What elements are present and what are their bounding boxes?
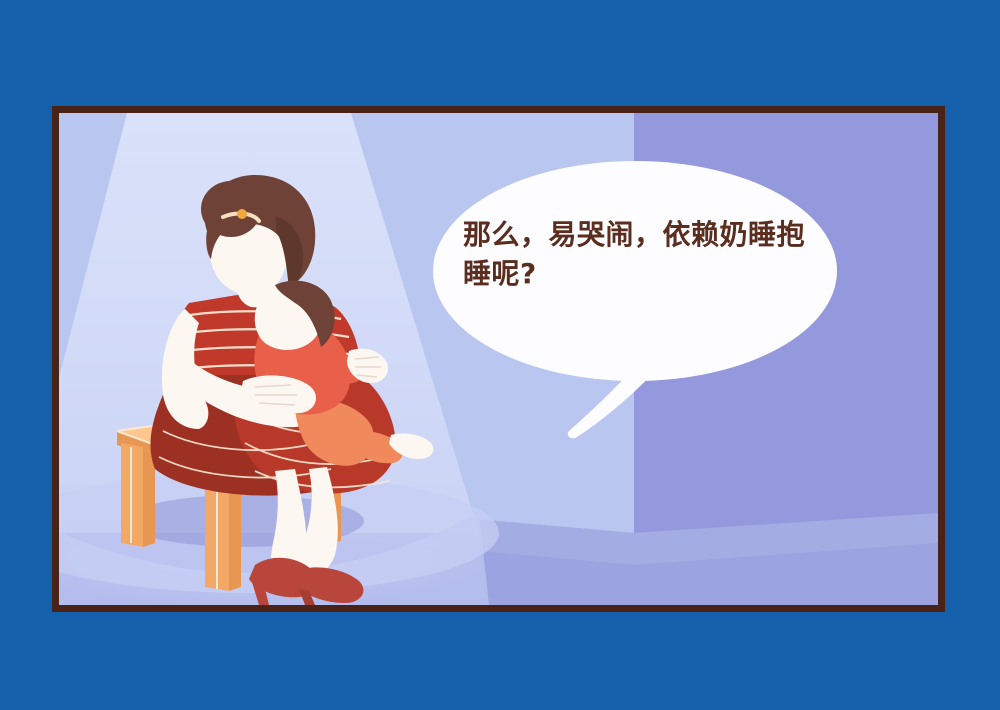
illustration-stage: 那么，易哭闹，依赖奶睡抱睡呢?: [0, 0, 1000, 710]
scene-illustration: [59, 113, 938, 605]
speech-bubble-text: 那么，易哭闹，依赖奶睡抱睡呢?: [463, 216, 808, 293]
comic-panel-frame: 那么，易哭闹，依赖奶睡抱睡呢?: [52, 106, 945, 612]
comic-panel-inner: 那么，易哭闹，依赖奶睡抱睡呢?: [59, 113, 938, 605]
